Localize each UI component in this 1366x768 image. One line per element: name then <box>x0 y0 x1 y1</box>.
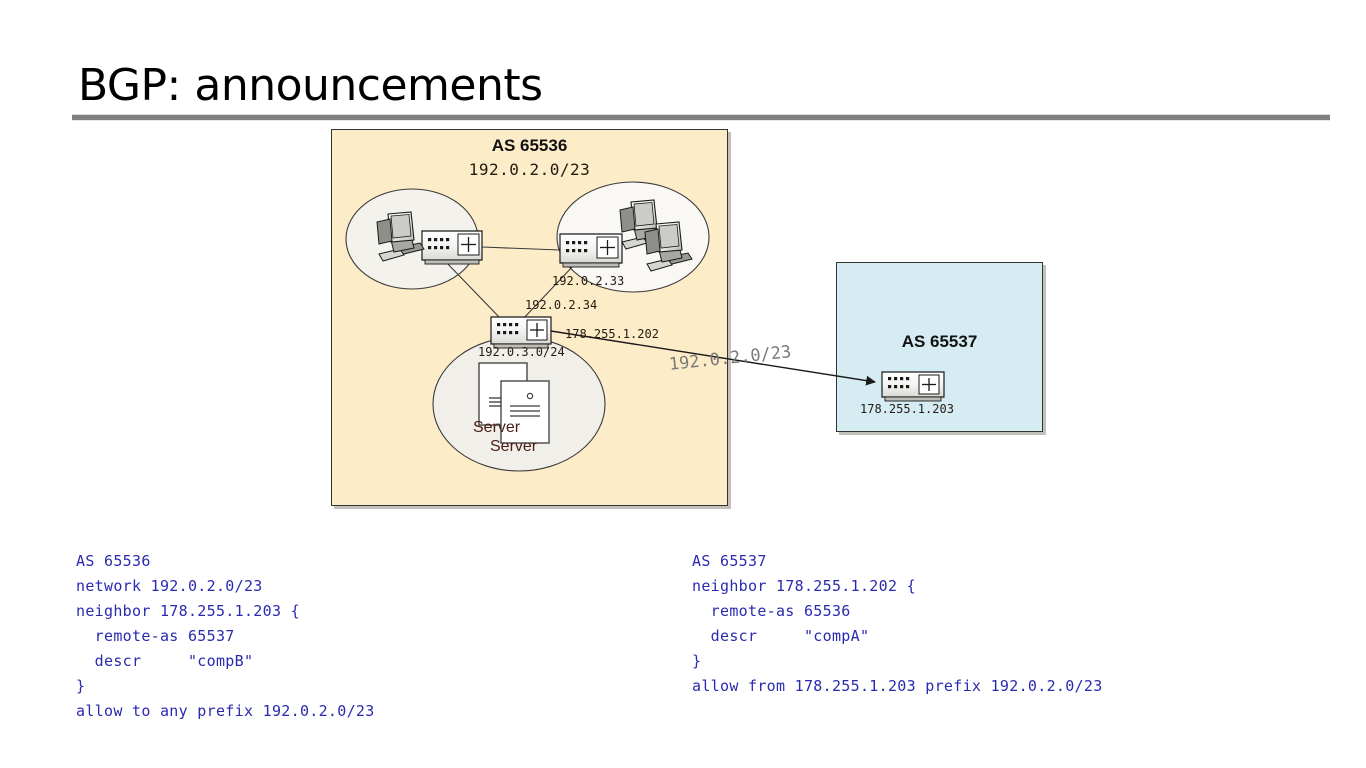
server-label-1: Server <box>473 419 520 437</box>
config-block-as65536: AS 65536 network 192.0.2.0/23 neighbor 1… <box>76 549 375 724</box>
title-divider <box>72 114 1330 121</box>
as-65537-label: AS 65537 <box>836 332 1043 352</box>
as-65536-label: AS 65536 <box>331 136 728 156</box>
border-ip-label-202: 178.255.1.202 <box>565 327 659 341</box>
config-block-as65537: AS 65537 neighbor 178.255.1.202 { remote… <box>692 549 1103 699</box>
page-title: BGP: announcements <box>78 60 543 111</box>
router-right-ip-label: 192.0.2.33 <box>552 274 624 288</box>
as-65537-router-ip-label: 178.255.1.203 <box>860 402 954 416</box>
router-core-ip-label: 192.0.2.34 <box>525 298 597 312</box>
server-subnet-label: 192.0.3.0/24 <box>478 345 565 359</box>
as-65536-prefix-label: 192.0.2.0/23 <box>331 160 728 179</box>
server-label-2: Server <box>490 438 537 456</box>
